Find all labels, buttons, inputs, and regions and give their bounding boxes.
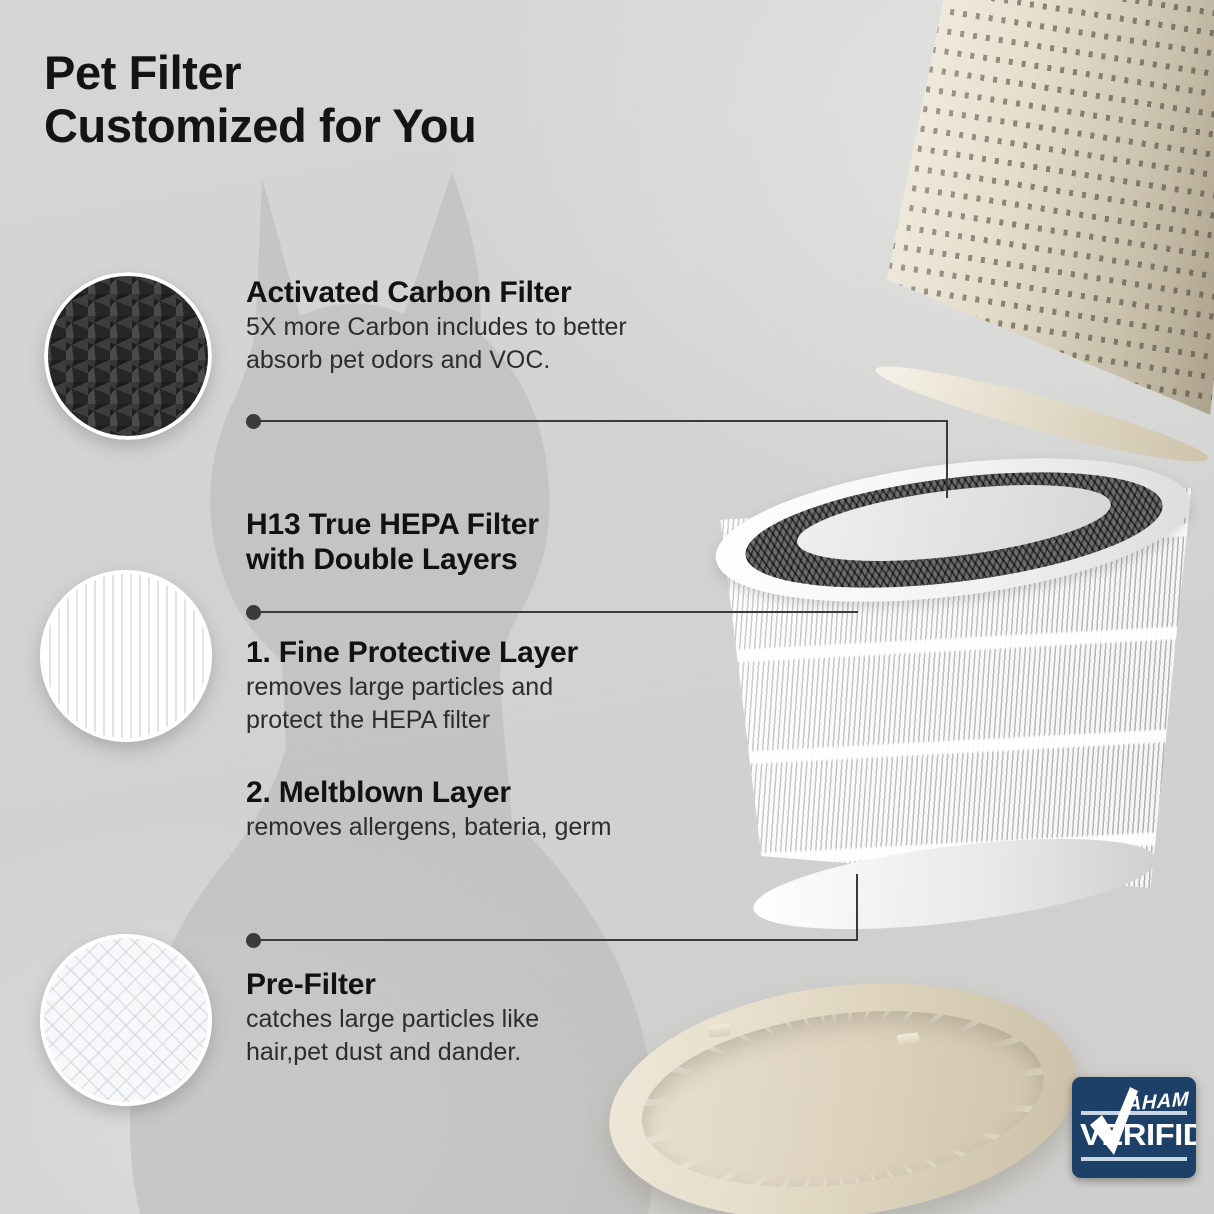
feature-body-line: protect the HEPA filter	[246, 704, 578, 737]
activated-carbon-swatch	[44, 272, 212, 440]
perforated-cone-housing	[808, 0, 1214, 459]
feature-body-line: catches large particles like	[246, 1003, 539, 1036]
base-tab	[896, 1032, 919, 1047]
title-line-2: Customized for You	[44, 99, 744, 152]
hepa-support-bands	[700, 488, 1212, 888]
pre-filter-mesh-swatch	[40, 934, 212, 1106]
title-line-1: Pet Filter	[44, 46, 744, 99]
cone-perforations	[808, 0, 1214, 459]
hepa-top-ring	[708, 435, 1199, 624]
infographic-canvas: Pet Filter Customized for You Activated …	[0, 0, 1214, 1214]
feature-heading-line-1: H13 True HEPA Filter	[246, 508, 539, 543]
feature-heading-line-2: with Double Layers	[246, 543, 539, 578]
carbon-honeycomb-ring	[739, 453, 1169, 607]
hepa-center-opening	[793, 471, 1115, 575]
feature-body-line: removes allergens, bateria, germ	[246, 811, 611, 844]
feature-heading: Pre-Filter	[246, 968, 539, 1003]
hepa-bottom-rim	[749, 822, 1161, 947]
hepa-filter-cylinder	[700, 448, 1212, 924]
filter-base-tray	[596, 958, 1091, 1214]
feature-h13-true-hepa: H13 True HEPA Filter with Double Layers	[246, 508, 539, 578]
feature-body-line: absorb pet odors and VOC.	[246, 344, 627, 377]
hepa-pleated-swatch	[40, 570, 212, 742]
feature-pre-filter: Pre-Filter catches large particles like …	[246, 968, 539, 1069]
feature-fine-protective-layer: 1. Fine Protective Layer removes large p…	[246, 636, 578, 737]
page-title: Pet Filter Customized for You	[44, 46, 744, 152]
feature-heading: 2. Meltblown Layer	[246, 776, 611, 811]
hepa-pleat-texture	[700, 488, 1212, 888]
feature-body-line: hair,pet dust and dander.	[246, 1036, 539, 1069]
feature-body-line: 5X more Carbon includes to better	[246, 311, 627, 344]
feature-body-line: removes large particles and	[246, 671, 578, 704]
feature-activated-carbon: Activated Carbon Filter 5X more Carbon i…	[246, 276, 627, 377]
cone-bottom-lip	[871, 353, 1212, 475]
verifide-label: VERIFIDE	[1080, 1117, 1196, 1153]
feature-meltblown-layer: 2. Meltblown Layer removes allergens, ba…	[246, 776, 611, 844]
feature-heading: Activated Carbon Filter	[246, 276, 627, 311]
base-ribs	[632, 990, 1054, 1208]
base-tab	[708, 1023, 731, 1038]
feature-heading: 1. Fine Protective Layer	[246, 636, 578, 671]
aham-verifide-badge: AHAM VERIFIDE	[1072, 1077, 1196, 1178]
